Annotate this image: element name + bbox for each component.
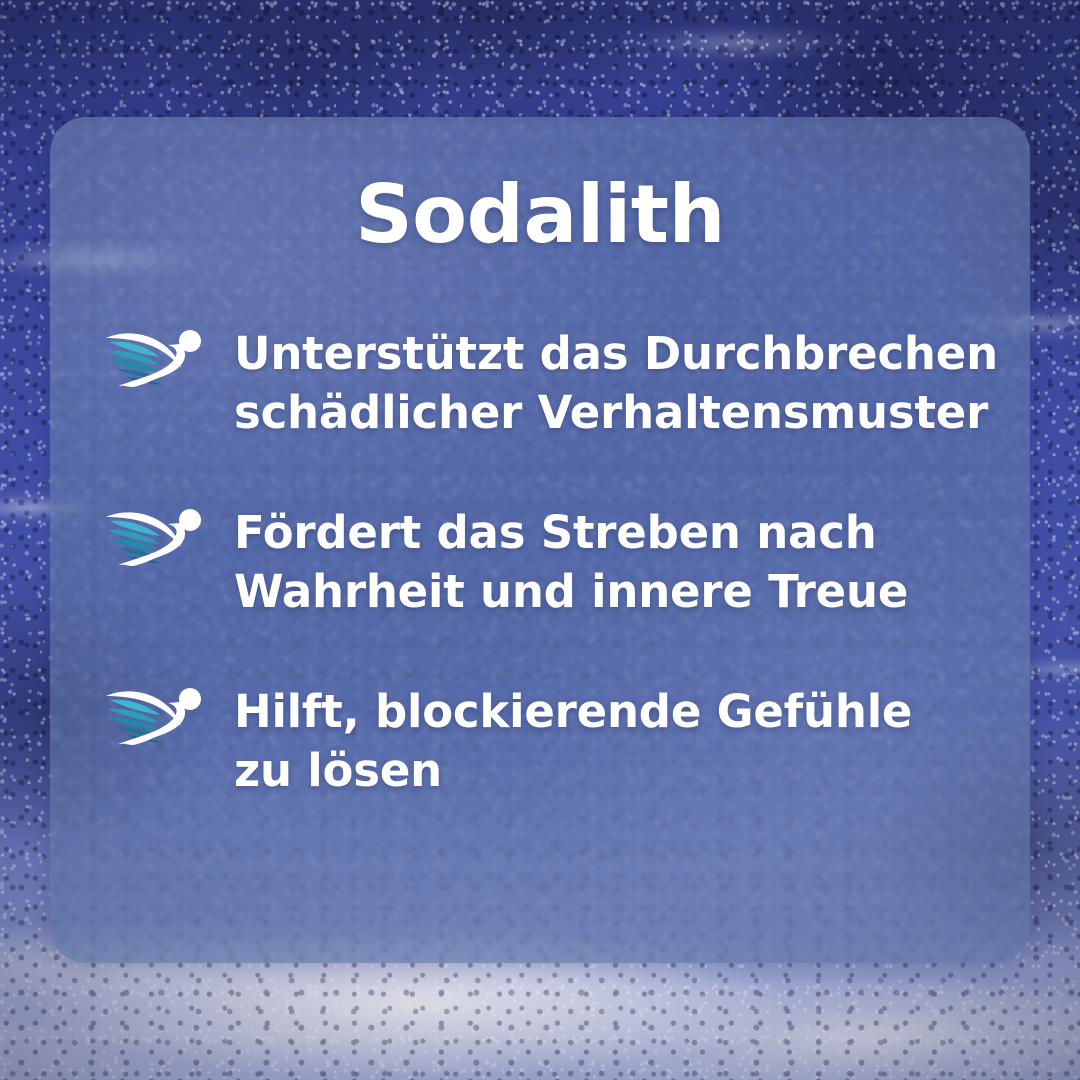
list-item-label: Fördert das Streben nach Wahrheit und in… xyxy=(234,501,908,622)
content-card: Sodalith xyxy=(50,117,1030,963)
list-item-label: Hilft, blockierende Gefühle zu lösen xyxy=(234,680,912,801)
poster-canvas: Sodalith xyxy=(0,0,1080,1080)
list-item-label: Unterstützt das Durchbrechen schädlicher… xyxy=(234,322,998,443)
winged-figure-icon xyxy=(102,324,206,390)
benefits-list: Unterstützt das Durchbrechen schädlicher… xyxy=(102,322,1000,800)
benefit-line-1: Fördert das Streben nach xyxy=(234,506,877,559)
page-title: Sodalith xyxy=(50,175,1030,255)
list-item: Hilft, blockierende Gefühle zu lösen xyxy=(102,680,1000,801)
winged-figure-icon xyxy=(102,503,206,569)
list-item: Fördert das Streben nach Wahrheit und in… xyxy=(102,501,1000,622)
benefit-line-2: schädlicher Verhaltensmuster xyxy=(234,386,988,439)
winged-figure-icon xyxy=(102,682,206,748)
benefit-line-1: Hilft, blockierende Gefühle xyxy=(234,685,912,738)
benefit-line-2: Wahrheit und innere Treue xyxy=(234,565,908,618)
benefit-line-2: zu lösen xyxy=(234,744,442,797)
benefit-line-1: Unterstützt das Durchbrechen xyxy=(234,327,998,380)
list-item: Unterstützt das Durchbrechen schädlicher… xyxy=(102,322,1000,443)
